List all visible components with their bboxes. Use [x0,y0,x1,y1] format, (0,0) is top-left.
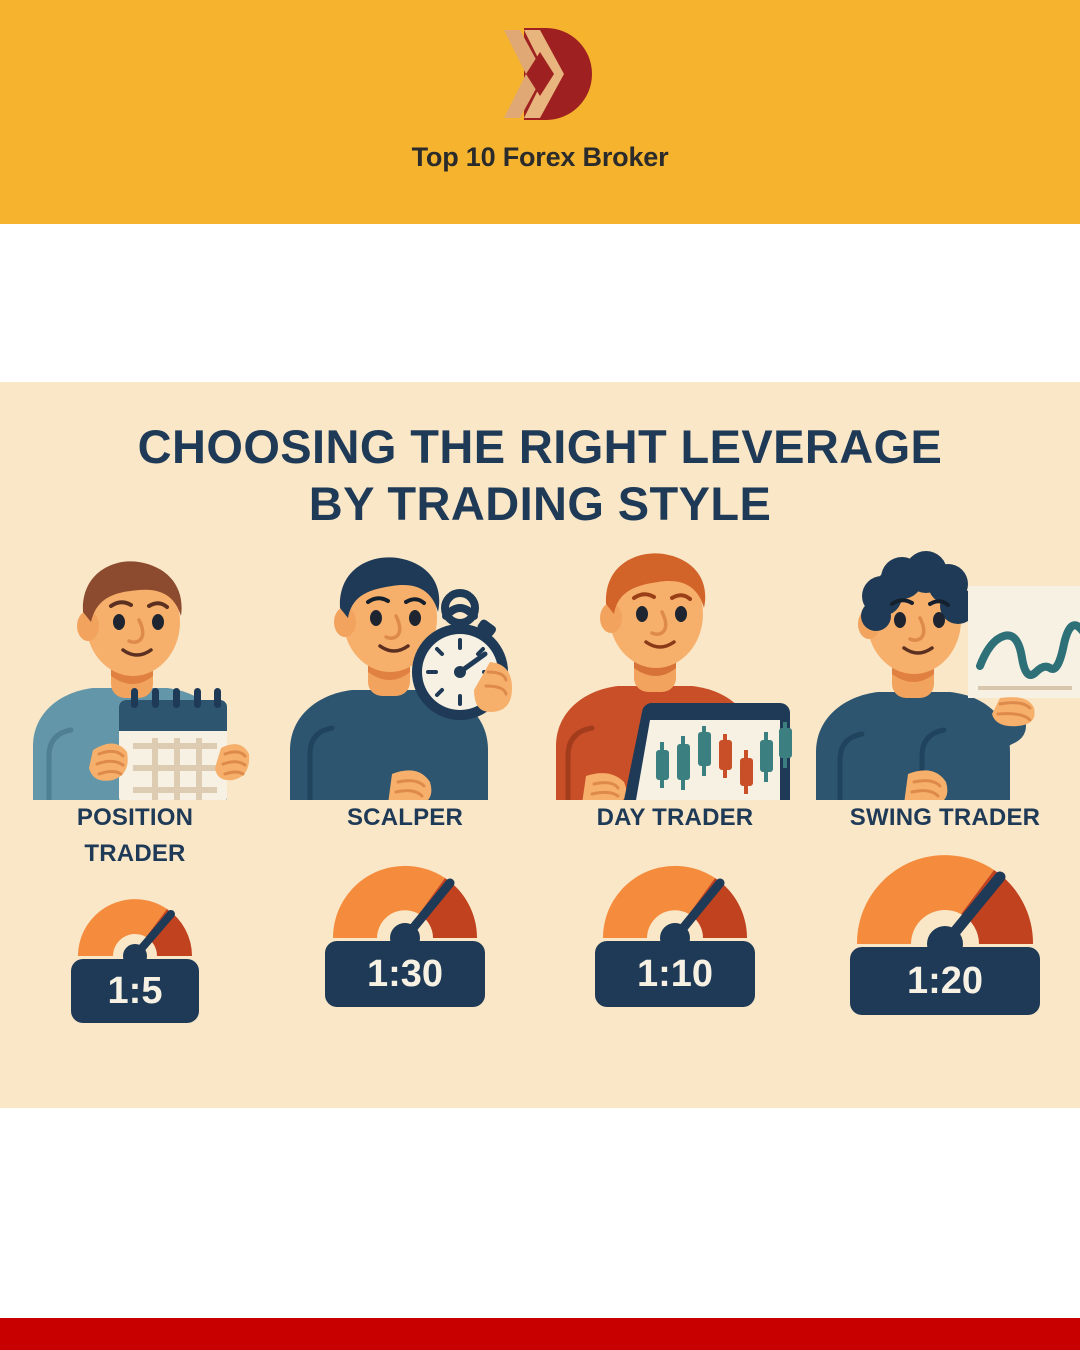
leverage-gauge-position-trader [70,886,200,969]
label-line-1: SCALPER [270,800,540,836]
page-title-line-1: CHOOSING THE RIGHT LEVERAGE [138,420,943,473]
header-bar: Top 10 Forex Broker [0,0,1080,224]
trading-style-columns: POSITION TRADER 1:5 [0,550,1080,1050]
gauge-group-scalper: 1:30 [270,850,540,1007]
brand-title: Top 10 Forex Broker [412,142,669,173]
leverage-gauge-swing-trader [847,836,1043,957]
column-day-trader: DAY TRADER 1:10 [540,550,810,1050]
leverage-gauge-scalper [325,850,485,951]
column-label-swing-trader: SWING TRADER [810,800,1080,836]
illustration-man-holding-chart-card [810,550,1080,800]
footer-white-space [0,1108,1080,1318]
label-line-1: DAY TRADER [540,800,810,836]
column-swing-trader: SWING TRADER 1:20 [810,550,1080,1050]
label-line-2: TRADER [0,836,270,872]
illustration-man-with-laptop [540,550,810,800]
leverage-gauge-day-trader [595,850,755,951]
leverage-badge-swing-trader: 1:20 [850,947,1040,1015]
column-label-day-trader: DAY TRADER [540,800,810,836]
label-line-1: POSITION [0,800,270,836]
column-position-trader: POSITION TRADER 1:5 [0,550,270,1050]
illustration-man-holding-calendar [0,550,270,800]
gauge-group-day-trader: 1:10 [540,850,810,1007]
column-label-position-trader: POSITION TRADER [0,800,270,872]
infographic-page: Top 10 Forex Broker CHOOSING THE RIGHT L… [0,0,1080,1350]
illustration-man-holding-stopwatch [270,550,540,800]
column-scalper: SCALPER 1:30 [270,550,540,1050]
content-panel: CHOOSING THE RIGHT LEVERAGE BY TRADING S… [0,382,1080,1108]
gauge-group-position-trader: 1:5 [0,886,270,1023]
label-line-1: SWING TRADER [810,800,1080,836]
page-title-line-2: BY TRADING STYLE [0,475,1080,532]
page-title: CHOOSING THE RIGHT LEVERAGE BY TRADING S… [0,418,1080,533]
footer-accent-bar [0,1318,1080,1350]
forex-broker-logo-icon [484,26,596,122]
column-label-scalper: SCALPER [270,800,540,836]
gauge-group-swing-trader: 1:20 [810,836,1080,1015]
